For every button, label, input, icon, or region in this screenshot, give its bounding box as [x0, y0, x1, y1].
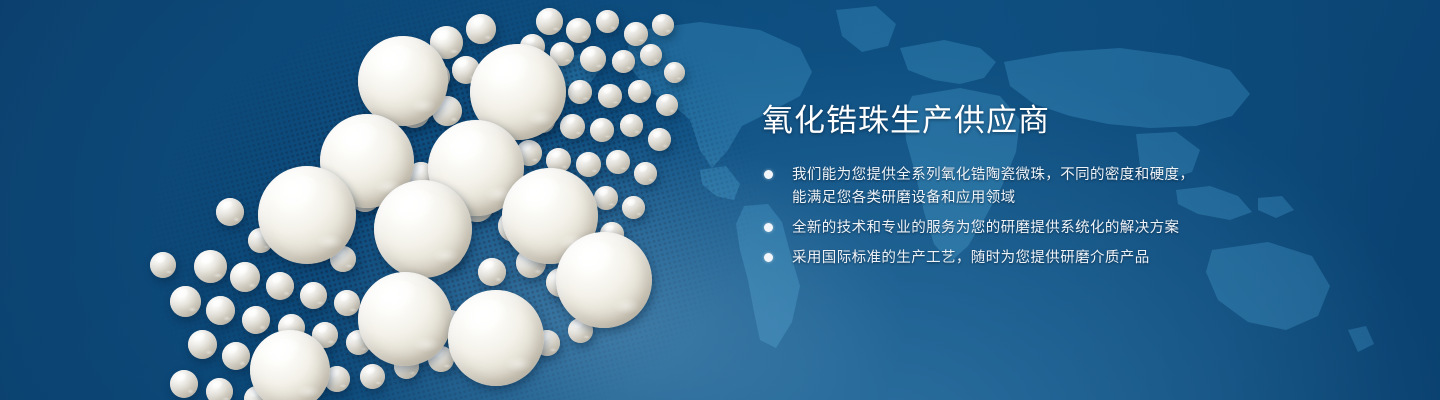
bead — [648, 128, 671, 151]
bead — [194, 250, 227, 283]
bead — [664, 62, 685, 83]
bead — [222, 342, 250, 370]
bead — [334, 290, 360, 316]
bead — [652, 14, 674, 36]
bead — [250, 330, 330, 400]
bead — [170, 370, 198, 398]
zirconia-beads-photo — [0, 0, 780, 400]
bead — [590, 118, 614, 142]
bead — [634, 162, 657, 185]
list-item: 采用国际标准的生产工艺，随时为您提供研磨介质产品 — [762, 247, 1382, 270]
feature-list: 我们能为您提供全系列氧化锆陶瓷微珠，不同的密度和硬度， 能满足您各类研磨设备和应… — [762, 164, 1382, 270]
banner-copy: 氧化锆珠生产供应商 我们能为您提供全系列氧化锆陶瓷微珠，不同的密度和硬度， 能满… — [762, 104, 1382, 277]
list-item: 全新的技术和专业的服务为您的研磨提供系统化的解决方案 — [762, 217, 1382, 240]
bead — [300, 282, 327, 309]
bullet-circle-icon — [764, 223, 773, 232]
bullet-circle-icon — [764, 253, 773, 262]
bead — [230, 262, 260, 292]
bead — [622, 196, 645, 219]
bead — [576, 152, 601, 177]
bead — [536, 8, 563, 35]
bead — [358, 36, 448, 126]
bead — [216, 198, 244, 226]
bead — [620, 114, 643, 137]
bead — [170, 286, 201, 317]
bead — [188, 330, 217, 359]
list-item-label: 全新的技术和专业的服务为您的研磨提供系统化的解决方案 — [792, 217, 1382, 240]
bead — [242, 306, 270, 334]
bead — [466, 14, 496, 44]
bead — [568, 80, 592, 104]
bead — [560, 114, 585, 139]
bead — [566, 18, 591, 43]
page-title: 氧化锆珠生产供应商 — [762, 104, 1382, 138]
bead — [628, 80, 651, 103]
bullet-circle-icon — [764, 170, 773, 179]
list-item-label-continued: 能满足您各类研磨设备和应用领域 — [792, 187, 1382, 210]
bead — [606, 150, 630, 174]
bead — [374, 180, 472, 278]
bead — [478, 258, 506, 286]
bead — [150, 252, 176, 278]
bead — [556, 232, 652, 328]
list-item-label: 采用国际标准的生产工艺，随时为您提供研磨介质产品 — [792, 247, 1382, 270]
bead — [258, 166, 356, 264]
list-item: 我们能为您提供全系列氧化锆陶瓷微珠，不同的密度和硬度， 能满足您各类研磨设备和应… — [762, 164, 1382, 210]
bead — [266, 272, 294, 300]
bead — [206, 296, 235, 325]
bead — [206, 378, 233, 400]
bead — [596, 10, 619, 33]
bead — [360, 364, 385, 389]
bead — [358, 272, 452, 366]
bead — [598, 84, 622, 108]
bead — [612, 50, 635, 73]
hero-banner: 氧化锆珠生产供应商 我们能为您提供全系列氧化锆陶瓷微珠，不同的密度和硬度， 能满… — [0, 0, 1440, 400]
bead — [656, 94, 678, 116]
bead — [624, 22, 648, 46]
bead — [640, 44, 662, 66]
bead — [594, 186, 618, 210]
bead — [448, 290, 544, 386]
list-item-label: 我们能为您提供全系列氧化锆陶瓷微珠，不同的密度和硬度， — [792, 164, 1382, 187]
bead — [580, 46, 606, 72]
